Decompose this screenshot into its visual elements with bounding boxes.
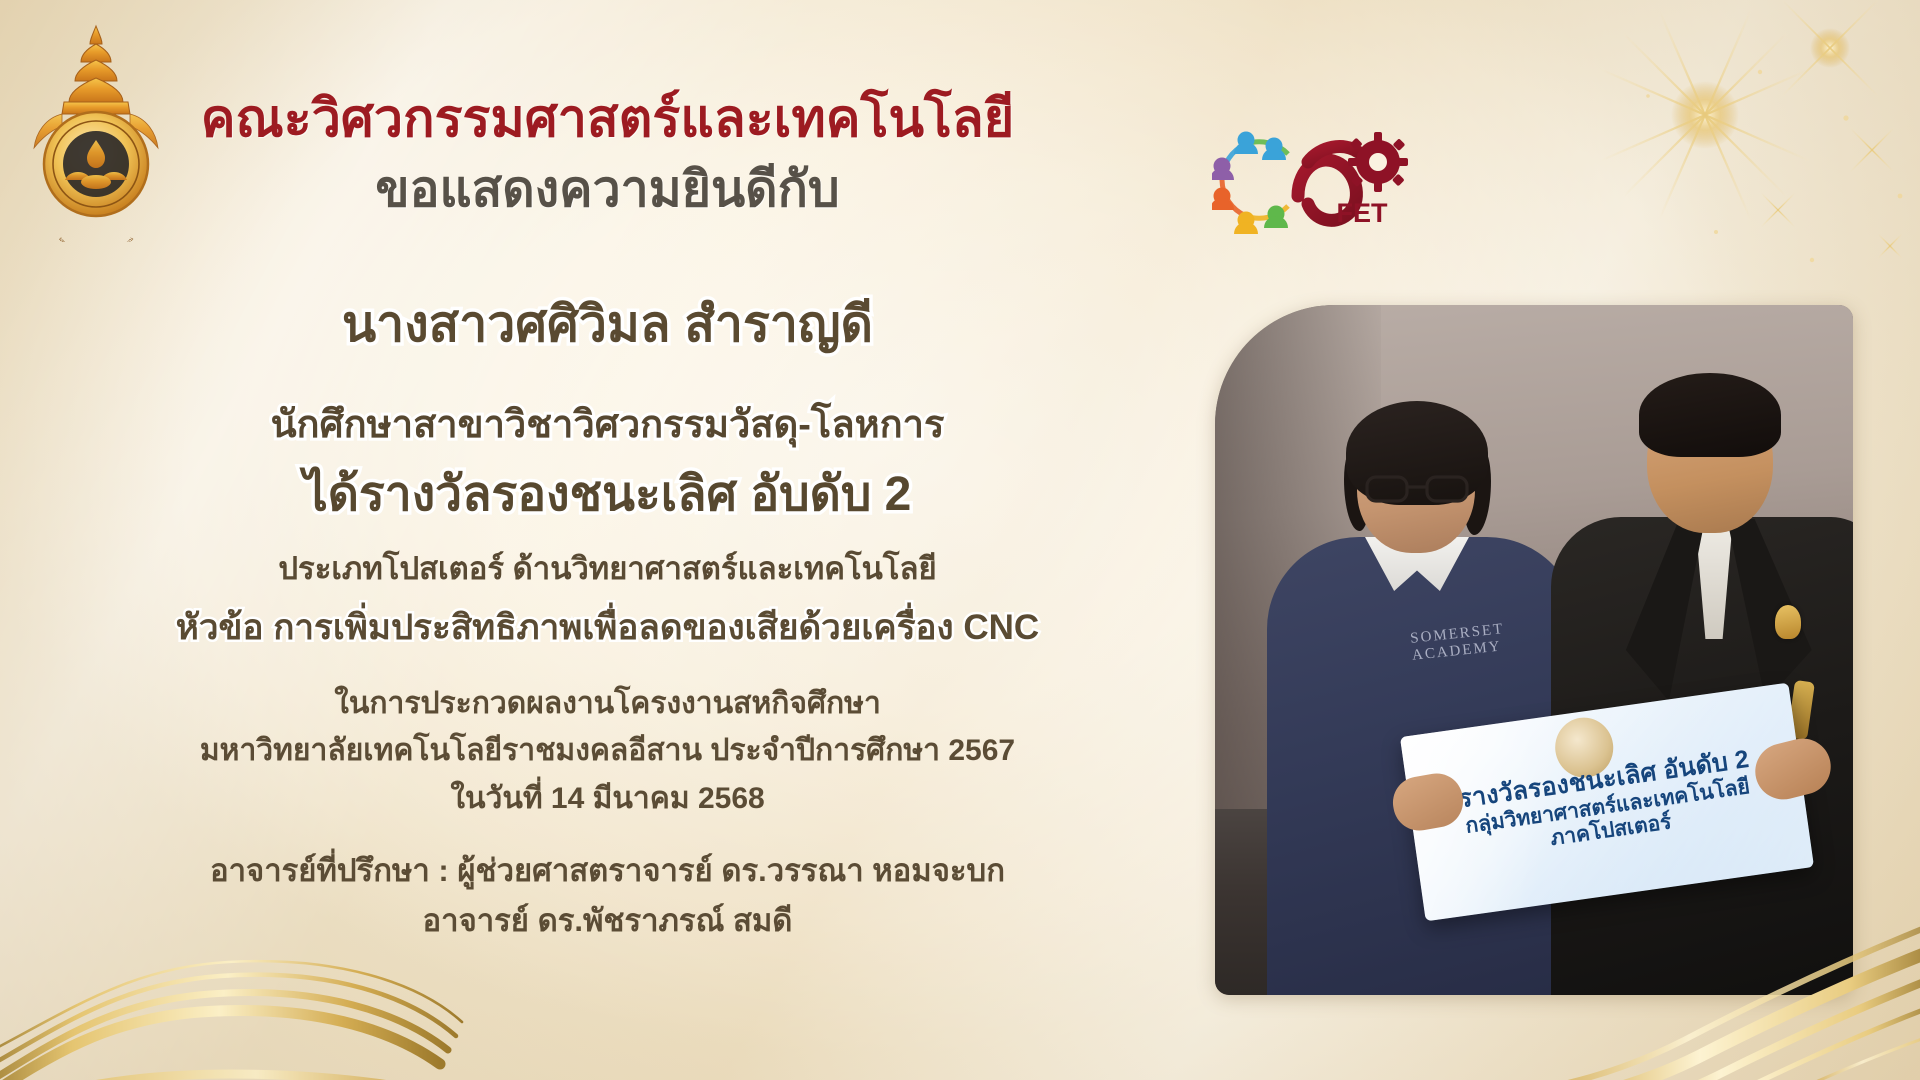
event-line-2: มหาวิทยาลัยเทคโนโลยีราชมงคลอีสาน ประจำปี… bbox=[0, 727, 1215, 774]
executive-lapel-pin bbox=[1775, 605, 1801, 639]
event-line-1: ในการประกวดผลงานโครงงานสหกิจศึกษา bbox=[0, 680, 1215, 727]
program-line: นักศึกษาสาขาวิชาวิศวกรรมวัสดุ-โลหการ bbox=[0, 393, 1215, 454]
fet-label: FET bbox=[1337, 198, 1389, 228]
student-name: นางสาวศศิวิมล สำราญดี bbox=[0, 285, 1215, 364]
faculty-heading: คณะวิศวกรรมศาสตร์และเทคโนโลยี bbox=[0, 76, 1215, 159]
category-line: ประเภทโปสเตอร์ ด้านวิทยาศาสตร์และเทคโนโล… bbox=[0, 543, 1215, 593]
executive-hair bbox=[1639, 373, 1781, 457]
glasses-icon bbox=[1365, 473, 1469, 503]
date-line: ในวันที่ 14 มีนาคม 2568 bbox=[0, 775, 1215, 822]
congratulation-heading: ขอแสดงความยินดีกับ bbox=[0, 150, 1215, 229]
gold-sparkles bbox=[1360, 0, 1920, 330]
people-circle-icon bbox=[1212, 132, 1288, 235]
advisor-line-2: อาจารย์ ดร.พัชราภรณ์ สมดี bbox=[0, 895, 1215, 945]
advisor-line-1: อาจารย์ที่ปรึกษา : ผู้ช่วยศาสตราจารย์ ดร… bbox=[0, 845, 1215, 895]
award-ceremony-photo: SOMERSET ACADEMY bbox=[1215, 305, 1853, 995]
congratulation-poster: มหาวิทยาลัยเทคโนโลยีราชมงคลอีสาน bbox=[0, 0, 1920, 1080]
award-line: ได้รางวัลรองชนะเลิศ อับดับ 2 bbox=[0, 456, 1215, 532]
poster-text-block: คณะวิศวกรรมศาสตร์และเทคโนโลยี ขอแสดงความ… bbox=[0, 0, 1215, 1080]
gear-icon bbox=[1348, 132, 1408, 192]
fet-faculty-logo: FET bbox=[1212, 122, 1432, 240]
topic-line: หัวข้อ การเพิ่มประสิทธิภาพเพื่อลดของเสีย… bbox=[0, 600, 1215, 655]
